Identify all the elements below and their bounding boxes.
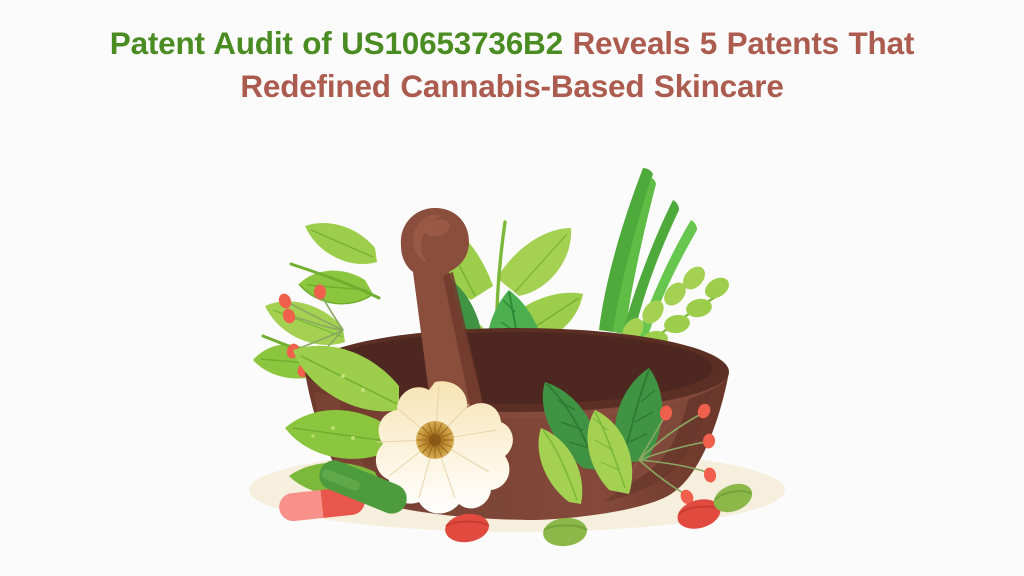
page-title: Patent Audit of US10653736B2 Reveals 5 P… (0, 22, 1024, 109)
mortar-and-pestle-illustration (247, 160, 787, 560)
headline: Patent Audit of US10653736B2 Reveals 5 P… (40, 22, 984, 109)
headline-green-segment: Patent Audit of US10653736B2 (110, 25, 563, 61)
headline-red-segment: Reveals 5 Patents That (563, 25, 914, 61)
headline-second-line: Redefined Cannabis-Based Skincare (240, 68, 783, 104)
banner-graphic: Patent Audit of US10653736B2 Reveals 5 P… (0, 0, 1024, 576)
